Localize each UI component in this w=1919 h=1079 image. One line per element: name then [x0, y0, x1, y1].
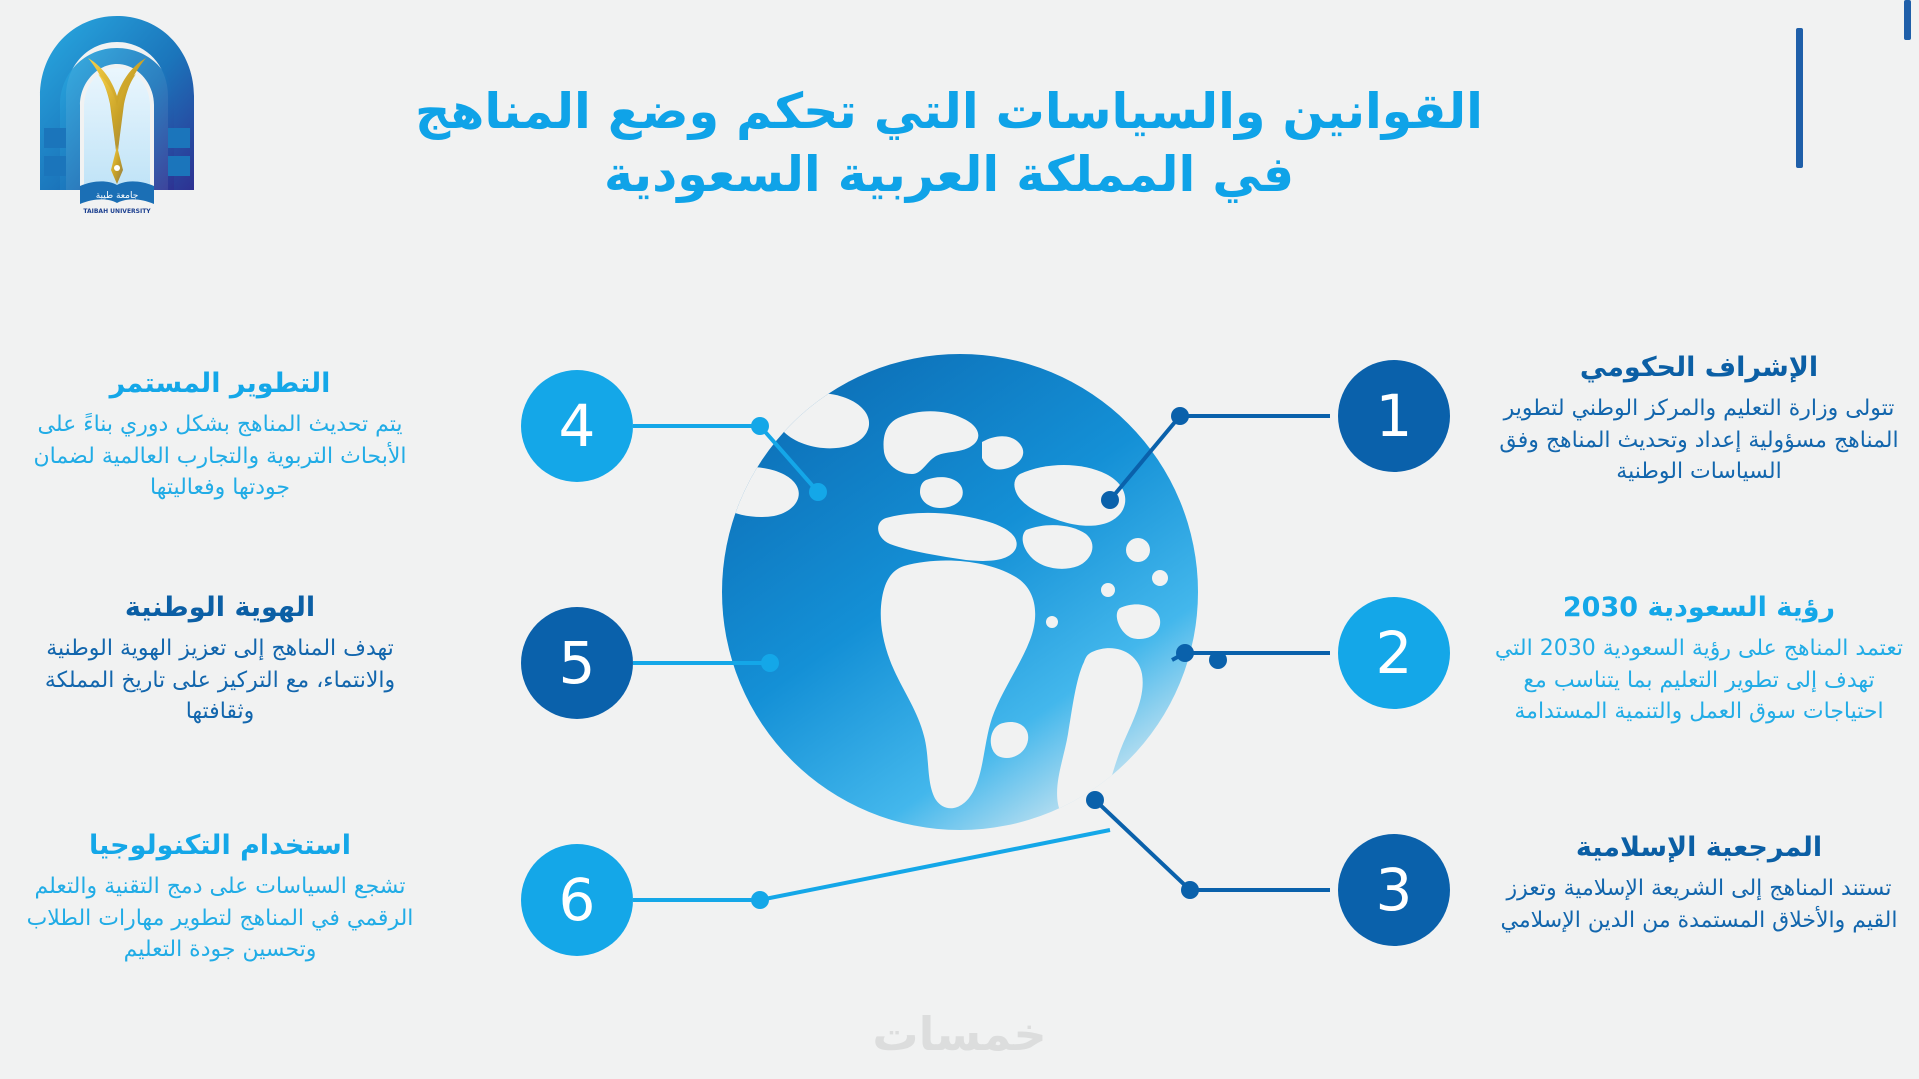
item-4-text: التطوير المستمر يتم تحديث المناهج بشكل د… — [10, 368, 430, 503]
item-1-heading: الإشراف الحكومي — [1489, 352, 1909, 384]
node-1-number: 1 — [1376, 387, 1413, 445]
item-2-text: رؤية السعودية 2030 تعتمد المناهج على رؤي… — [1489, 592, 1909, 727]
node-1[interactable]: 1 — [1338, 360, 1450, 472]
node-3[interactable]: 3 — [1338, 834, 1450, 946]
logo-arabic-name: جامعة طيبة — [96, 191, 139, 201]
item-5-heading: الهوية الوطنية — [10, 592, 430, 624]
item-6-heading: استخدام التكنولوجيا — [10, 830, 430, 862]
node-4[interactable]: 4 — [521, 370, 633, 482]
header-accent-rule — [1796, 28, 1803, 168]
page-title: القوانين والسياسات التي تحكم وضع المناهج… — [379, 81, 1519, 206]
item-3-body: تستند المناهج إلى الشريعة الإسلامية وتعز… — [1489, 873, 1909, 935]
item-1-text: الإشراف الحكومي تتولى وزارة التعليم والم… — [1489, 352, 1909, 487]
item-1-body: تتولى وزارة التعليم والمركز الوطني لتطوي… — [1489, 393, 1909, 487]
item-4-heading: التطوير المستمر — [10, 368, 430, 400]
node-6-number: 6 — [559, 871, 596, 929]
watermark: خمسات — [0, 1007, 1919, 1061]
item-5-text: الهوية الوطنية تهدف المناهج إلى تعزيز ال… — [10, 592, 430, 727]
node-3-number: 3 — [1376, 861, 1413, 919]
node-6[interactable]: 6 — [521, 844, 633, 956]
item-5-body: تهدف المناهج إلى تعزيز الهوية الوطنية وا… — [10, 633, 430, 727]
item-6-body: تشجع السياسات على دمج التقنية والتعلم ال… — [10, 871, 430, 965]
node-2[interactable]: 2 — [1338, 597, 1450, 709]
item-3-heading: المرجعية الإسلامية — [1489, 832, 1909, 864]
item-6-text: استخدام التكنولوجيا تشجع السياسات على دم… — [10, 830, 430, 965]
node-5[interactable]: 5 — [521, 607, 633, 719]
item-2-body: تعتمد المناهج على رؤية السعودية 2030 الت… — [1489, 633, 1909, 727]
globe-illustration — [690, 322, 1230, 862]
header-accent-rule-top — [1904, 0, 1911, 40]
infographic-canvas: جامعة طيبة ٢٠٠٣ ١٤٢٤ TAIBAH UNIVERSITY ا… — [0, 0, 1919, 1079]
item-3-text: المرجعية الإسلامية تستند المناهج إلى الش… — [1489, 832, 1909, 936]
item-4-body: يتم تحديث المناهج بشكل دوري بناءً على ال… — [10, 409, 430, 503]
node-2-number: 2 — [1376, 624, 1413, 682]
item-2-heading: رؤية السعودية 2030 — [1489, 592, 1909, 624]
taibah-university-logo: جامعة طيبة ٢٠٠٣ ١٤٢٤ TAIBAH UNIVERSITY — [22, 8, 212, 213]
node-4-number: 4 — [559, 397, 596, 455]
node-5-number: 5 — [559, 634, 596, 692]
logo-english-name: TAIBAH UNIVERSITY — [83, 208, 151, 213]
